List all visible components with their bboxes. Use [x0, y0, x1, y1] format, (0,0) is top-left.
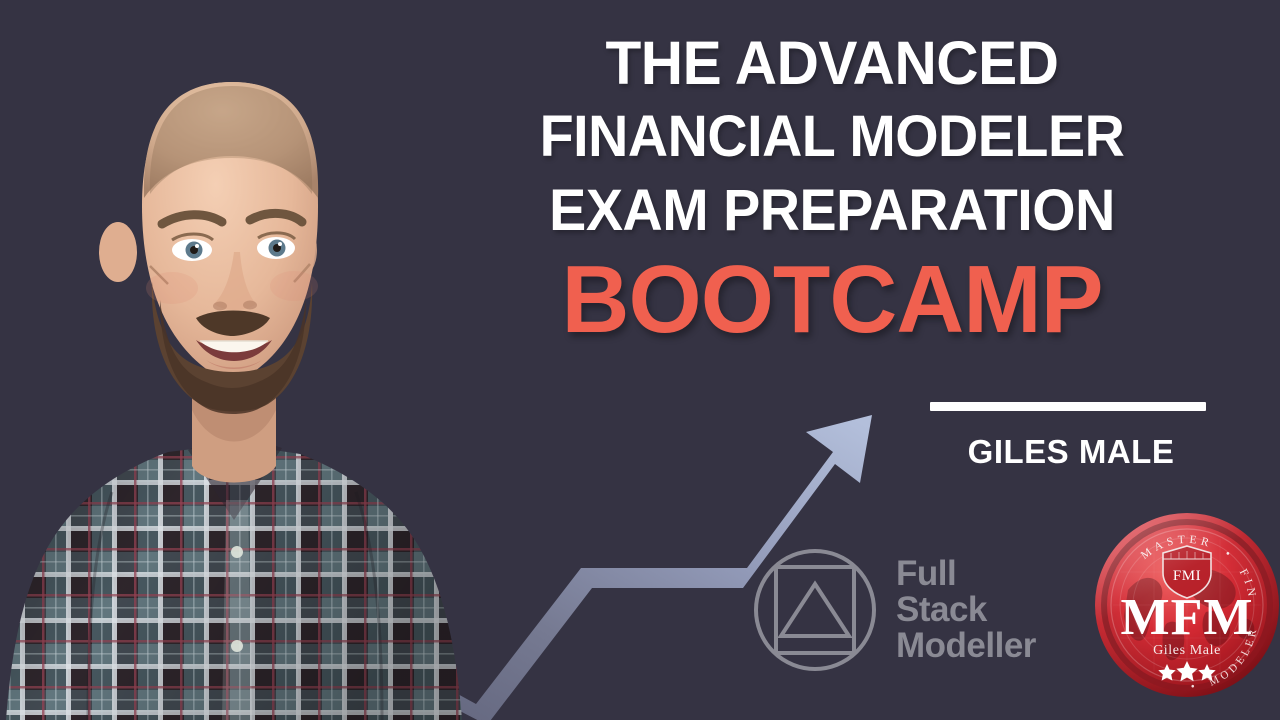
- headline-line-2: FINANCIAL MODELER: [456, 100, 1209, 174]
- presenter-name-block: GILES MALE: [930, 402, 1212, 469]
- thumbnail-canvas: THE ADVANCED FINANCIAL MODELER EXAM PREP…: [0, 0, 1280, 720]
- full-stack-modeller-wordmark: Full Stack Modeller: [896, 556, 1036, 664]
- headline-line-3: EXAM PREPARATION: [456, 174, 1209, 248]
- presenter-name: GILES MALE: [930, 435, 1212, 469]
- page-title: THE ADVANCED FINANCIAL MODELER EXAM PREP…: [440, 26, 1224, 352]
- logo-line-3: Modeller: [896, 628, 1036, 664]
- headline-emphasis-bootcamp: BOOTCAMP: [448, 248, 1216, 352]
- headline-line-1: THE ADVANCED: [456, 26, 1209, 100]
- logo-line-1: Full: [896, 556, 1036, 592]
- mfm-certification-seal: MASTER • FINANCIAL • MODELER FMI: [1094, 512, 1280, 698]
- presenter-photo: [0, 0, 470, 720]
- circle-square-triangle-icon: [751, 546, 879, 674]
- name-divider-rule: [930, 402, 1206, 411]
- logo-line-2: Stack: [896, 592, 1036, 628]
- full-stack-modeller-logo: Full Stack Modeller: [751, 546, 1036, 674]
